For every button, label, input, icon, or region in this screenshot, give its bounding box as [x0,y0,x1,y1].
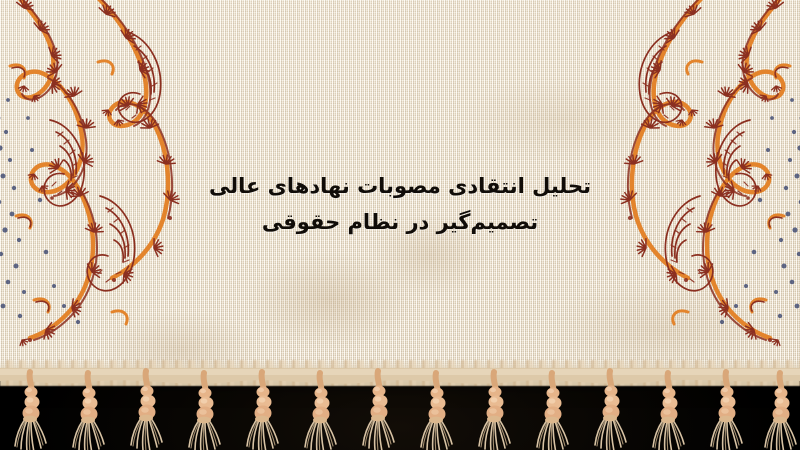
tassel [421,373,452,450]
tassel [73,373,104,450]
tassel [131,371,162,450]
tassel [363,371,394,450]
tassel [537,373,568,450]
tassel [711,372,742,450]
tassel [15,372,46,450]
tassel [305,373,336,450]
tassel-fringe [0,368,800,450]
tassel [653,373,684,450]
title-line-1: تحلیل انتقادی مصوبات نهادهای عالی [0,168,800,204]
tassel [247,372,278,450]
tassel [765,373,796,450]
slide-canvas: تحلیل انتقادی مصوبات نهادهای عالی تصمیم‌… [0,0,800,450]
title-line-2: تصمیم‌گیر در نظام حقوقی [0,204,800,240]
tassel [189,373,220,450]
slide-title: تحلیل انتقادی مصوبات نهادهای عالی تصمیم‌… [0,168,800,240]
